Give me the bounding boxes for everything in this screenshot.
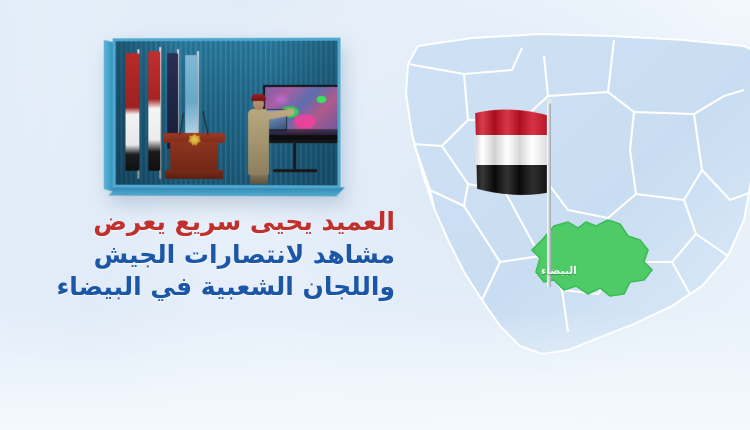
photo-podium-base bbox=[165, 170, 223, 179]
photo-officer-beret bbox=[251, 94, 266, 101]
photo-display-screen-caption-bar bbox=[265, 129, 337, 135]
photo-flag-1 bbox=[126, 53, 140, 171]
photo-display-screen-lower-rail bbox=[265, 141, 337, 143]
governorate-label-al-bayda: البيضاء bbox=[541, 265, 577, 277]
headline-line-3: واللجان الشعبية في البيضاء bbox=[75, 271, 395, 304]
photo-flag-2 bbox=[148, 51, 160, 171]
photo-display-screen-foot bbox=[273, 169, 317, 172]
photo-display-screen-stand bbox=[293, 141, 296, 171]
headline-line-2: مشاهد لانتصارات الجيش bbox=[75, 239, 395, 272]
headline: العميد يحيى سريع يعرض مشاهد لانتصارات ال… bbox=[75, 206, 395, 304]
yemen-flag bbox=[455, 95, 605, 295]
background-bottom-fade bbox=[0, 310, 750, 430]
photo-frame bbox=[113, 38, 341, 189]
press-conference-photo bbox=[113, 38, 341, 189]
flag-cloth bbox=[473, 105, 551, 201]
flag-pole bbox=[547, 101, 551, 287]
headline-line-1: العميد يحيى سريع يعرض bbox=[75, 206, 395, 239]
news-graphic-canvas: البيضاء bbox=[0, 0, 750, 430]
